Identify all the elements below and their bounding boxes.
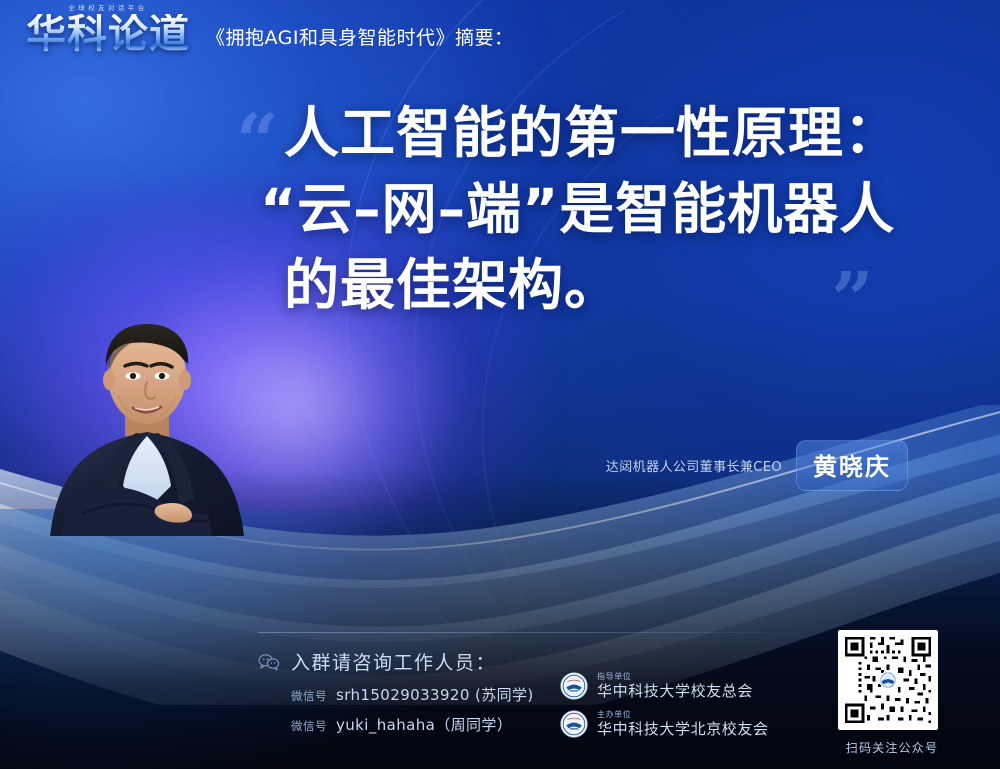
organizer-name: 华中科技大学北京校友会 bbox=[597, 722, 769, 737]
speaker-name-badge: 黄晓庆 bbox=[796, 440, 908, 491]
contact-value[interactable]: srh15029033920 (苏同学) bbox=[336, 684, 534, 705]
speaker-portrait-photo bbox=[22, 300, 272, 555]
qr-section: 扫码关注公众号 bbox=[838, 630, 946, 756]
quote-line-1: 人工智能的第一性原理： bbox=[284, 95, 956, 171]
qr-caption: 扫码关注公众号 bbox=[838, 739, 946, 756]
footer-divider bbox=[258, 632, 798, 633]
organizer-kind: 主办单位 bbox=[597, 711, 769, 719]
quote-open-mark: “ bbox=[236, 105, 279, 179]
poster-canvas: 全球校友对话平台 华科论道 《拥抱AGI和具身智能时代》摘要： “ 人工智能的第… bbox=[0, 0, 1000, 769]
organizer-row: 主办单位 华中科技大学北京校友会 bbox=[560, 710, 769, 738]
footer-title: 入群请咨询工作人员： bbox=[291, 648, 496, 675]
qr-code-image[interactable] bbox=[838, 630, 938, 730]
contact-value[interactable]: yuki_hahaha（周同学） bbox=[336, 714, 512, 735]
contact-label: 微信号 bbox=[291, 688, 327, 704]
speaker-attribution: 达闼机器人公司董事长兼CEO 黄晓庆 bbox=[606, 440, 908, 491]
poster-header: 全球校友对话平台 华科论道 《拥抱AGI和具身智能时代》摘要： bbox=[26, 14, 514, 56]
organizer-kind: 指导单位 bbox=[597, 673, 753, 681]
speaker-role: 达闼机器人公司董事长兼CEO bbox=[606, 456, 782, 475]
brand-title: 华科论道 bbox=[26, 14, 190, 56]
quote-close-mark: ” bbox=[831, 263, 874, 337]
episode-subtitle: 《拥抱AGI和具身智能时代》摘要： bbox=[206, 23, 514, 56]
organizer-row: 指导单位 华中科技大学校友总会 bbox=[560, 672, 769, 700]
university-seal-icon bbox=[560, 672, 588, 700]
wechat-icon bbox=[258, 654, 280, 670]
quote-line-2: “云–网–端”是智能机器人 bbox=[260, 171, 956, 247]
organizer-list: 指导单位 华中科技大学校友总会 主办单位 华中科技大学北京校友会 bbox=[560, 672, 769, 748]
university-seal-icon bbox=[560, 710, 588, 738]
brand-logo: 全球校友对话平台 华科论道 bbox=[26, 14, 190, 56]
organizer-name: 华中科技大学校友总会 bbox=[597, 684, 753, 699]
pull-quote: “ 人工智能的第一性原理： “云–网–端”是智能机器人 的最佳架构。 ” bbox=[236, 95, 956, 323]
contact-label: 微信号 bbox=[291, 718, 327, 734]
